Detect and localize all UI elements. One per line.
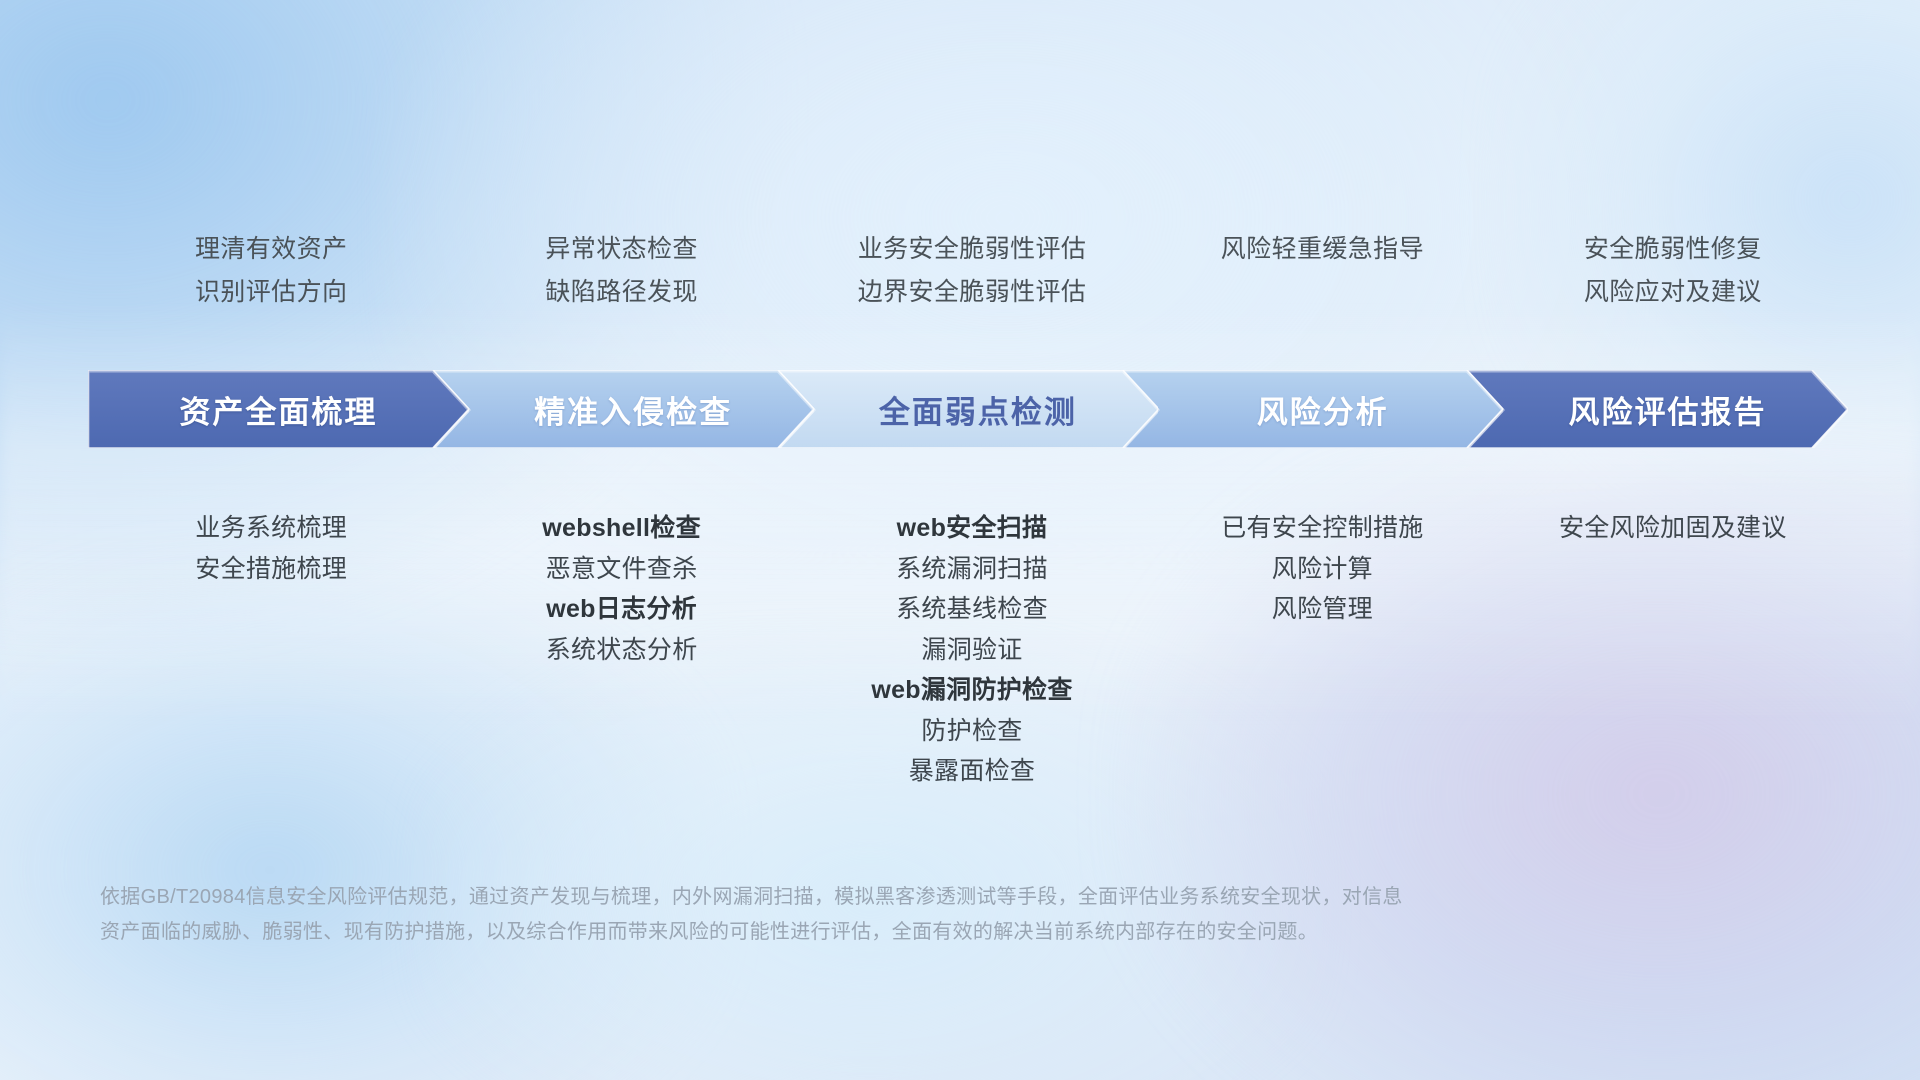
bottom-detail-item: 恶意文件查杀: [446, 549, 796, 590]
bottom-detail-cell-asset-inventory: 业务系统梳理安全措施梳理: [96, 508, 446, 589]
bottom-detail-item: web安全扫描: [797, 508, 1147, 549]
bottom-detail-item: 业务系统梳理: [96, 508, 446, 549]
process-step-label: 全面弱点检测: [879, 387, 1077, 432]
top-caption-row: 理清有效资产识别评估方向异常状态检查缺陷路径发现业务安全脆弱性评估边界安全脆弱性…: [96, 228, 1848, 314]
process-step-label: 精准入侵检查: [534, 387, 732, 432]
process-step-weakness-detection[interactable]: 全面弱点检测: [778, 370, 1159, 448]
process-step-label: 风险分析: [1257, 387, 1389, 432]
bottom-detail-cell-weakness-detection: web安全扫描系统漏洞扫描系统基线检查漏洞验证web漏洞防护检查防护检查暴露面检…: [797, 508, 1147, 792]
process-step-label: 资产全面梳理: [179, 387, 377, 432]
bottom-detail-item: 安全措施梳理: [96, 549, 446, 590]
top-caption-item: 识别评估方向: [96, 271, 446, 314]
bottom-detail-item: 暴露面检查: [797, 751, 1147, 792]
bottom-detail-item: webshell检查: [446, 508, 796, 549]
bottom-detail-item: 风险管理: [1147, 589, 1497, 630]
top-caption-cell-risk-analysis: 风险轻重缓急指导: [1147, 228, 1497, 271]
slide-canvas: 理清有效资产识别评估方向异常状态检查缺陷路径发现业务安全脆弱性评估边界安全脆弱性…: [0, 0, 1920, 1080]
top-caption-item: 风险轻重缓急指导: [1147, 228, 1497, 271]
bottom-detail-item: 漏洞验证: [797, 630, 1147, 671]
top-caption-item: 边界安全脆弱性评估: [797, 271, 1147, 314]
process-step-label: 风险评估报告: [1568, 387, 1766, 432]
bottom-detail-item: 已有安全控制措施: [1147, 508, 1497, 549]
process-step-risk-report[interactable]: 风险评估报告: [1467, 370, 1848, 448]
footer-description: 依据GB/T20984信息安全风险评估规范，通过资产发现与梳理，内外网漏洞扫描，…: [100, 880, 1760, 950]
bottom-detail-cell-risk-report: 安全风险加固及建议: [1498, 508, 1848, 549]
top-caption-item: 风险应对及建议: [1498, 271, 1848, 314]
process-step-asset-inventory[interactable]: 资产全面梳理: [88, 370, 469, 448]
bottom-detail-item: 防护检查: [797, 711, 1147, 752]
bottom-detail-item: 风险计算: [1147, 549, 1497, 590]
top-caption-item: 异常状态检查: [446, 228, 796, 271]
process-chevron-band: 资产全面梳理精准入侵检查全面弱点检测风险分析风险评估报告: [88, 370, 1848, 448]
bottom-detail-item: 系统漏洞扫描: [797, 549, 1147, 590]
bottom-detail-cell-risk-analysis: 已有安全控制措施风险计算风险管理: [1147, 508, 1497, 630]
bottom-detail-item: 安全风险加固及建议: [1498, 508, 1848, 549]
top-caption-item: 安全脆弱性修复: [1498, 228, 1848, 271]
top-caption-cell-asset-inventory: 理清有效资产识别评估方向: [96, 228, 446, 314]
footer-line-2: 资产面临的威胁、脆弱性、现有防护措施，以及综合作用而带来风险的可能性进行评估，全…: [100, 915, 1760, 950]
bottom-detail-cell-intrusion-check: webshell检查恶意文件查杀web日志分析系统状态分析: [446, 508, 796, 670]
bottom-detail-row: 业务系统梳理安全措施梳理webshell检查恶意文件查杀web日志分析系统状态分…: [96, 508, 1848, 792]
bottom-detail-item: 系统基线检查: [797, 589, 1147, 630]
process-step-intrusion-check[interactable]: 精准入侵检查: [433, 370, 814, 448]
top-caption-item: 业务安全脆弱性评估: [797, 228, 1147, 271]
bottom-detail-item: web日志分析: [446, 589, 796, 630]
top-caption-cell-weakness-detection: 业务安全脆弱性评估边界安全脆弱性评估: [797, 228, 1147, 314]
slide-content: 理清有效资产识别评估方向异常状态检查缺陷路径发现业务安全脆弱性评估边界安全脆弱性…: [0, 0, 1920, 1080]
bottom-detail-item: web漏洞防护检查: [797, 670, 1147, 711]
top-caption-cell-risk-report: 安全脆弱性修复风险应对及建议: [1498, 228, 1848, 314]
footer-line-1: 依据GB/T20984信息安全风险评估规范，通过资产发现与梳理，内外网漏洞扫描，…: [100, 880, 1760, 915]
process-step-risk-analysis[interactable]: 风险分析: [1122, 370, 1503, 448]
top-caption-item: 理清有效资产: [96, 228, 446, 271]
bottom-detail-item: 系统状态分析: [446, 630, 796, 671]
top-caption-cell-intrusion-check: 异常状态检查缺陷路径发现: [446, 228, 796, 314]
top-caption-item: 缺陷路径发现: [446, 271, 796, 314]
